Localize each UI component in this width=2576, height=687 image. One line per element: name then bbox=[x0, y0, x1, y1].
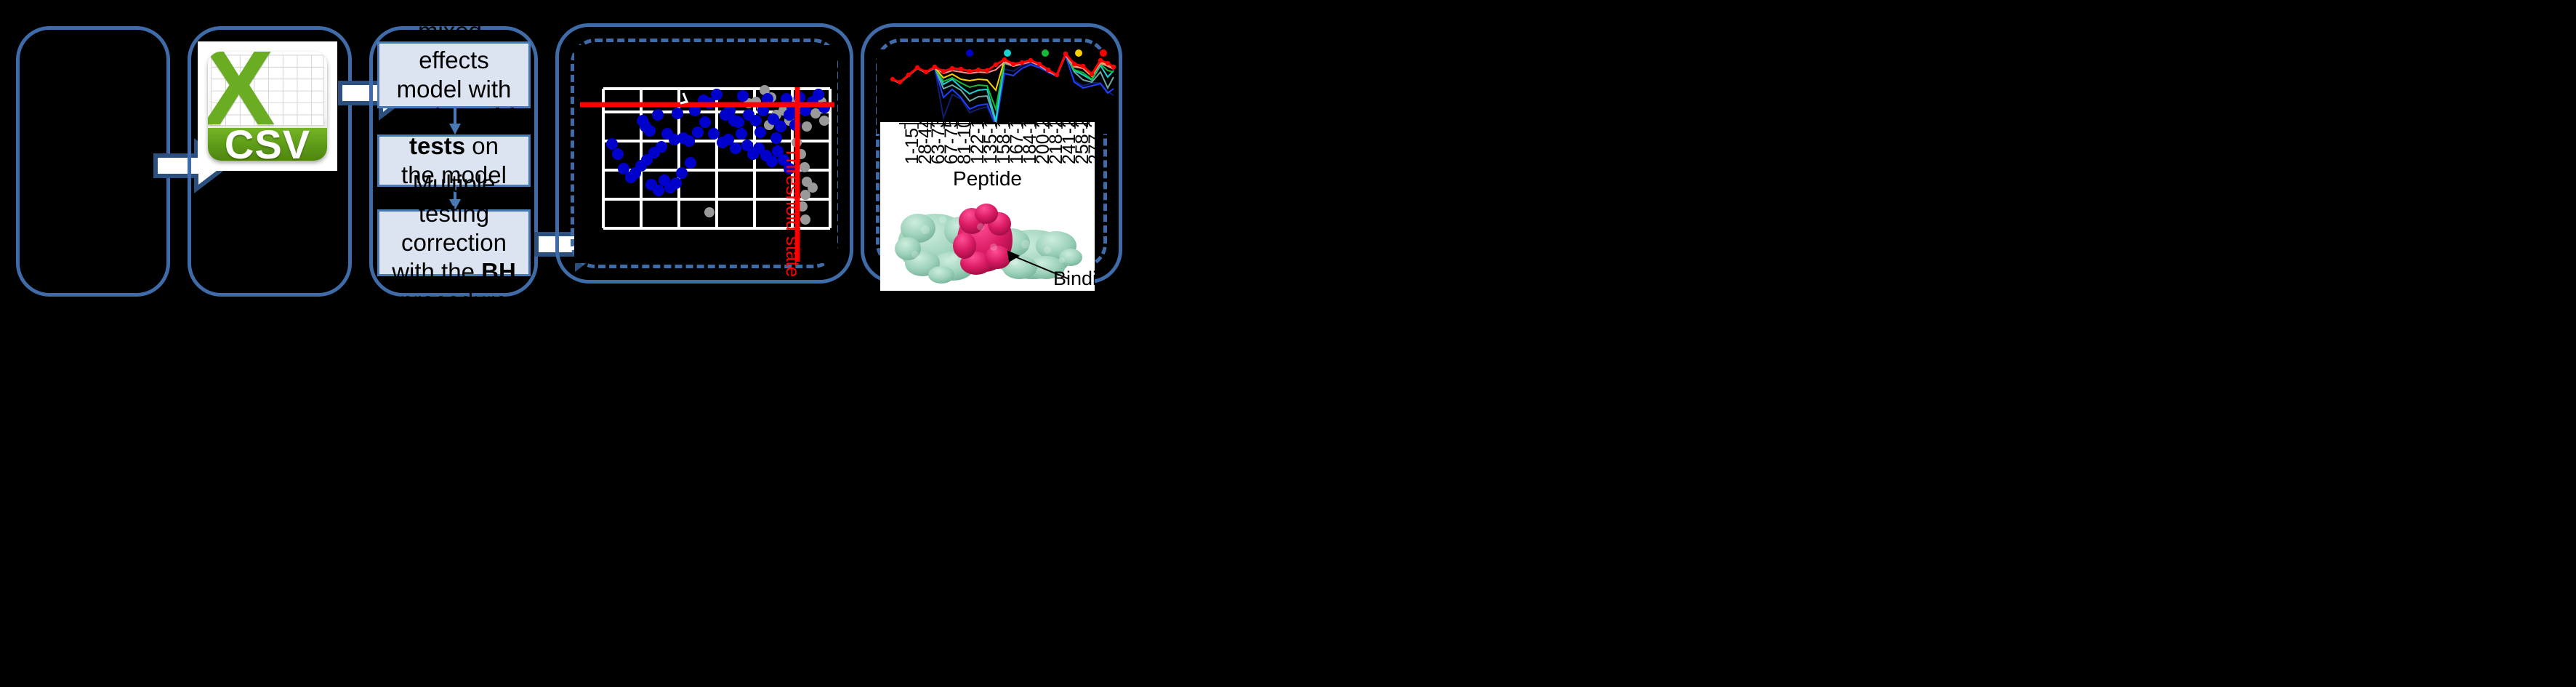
step-fit-model-box[interactable]: Fit a linear mixed-effects model withREM… bbox=[377, 41, 531, 108]
peptide-tick-14: 277-284 bbox=[1085, 122, 1095, 164]
input-panel bbox=[16, 26, 170, 297]
flowchart-canvas: X CSV Fit a linear mixed-effects model w… bbox=[0, 0, 2576, 687]
binding-interface-label: Binding interface bbox=[1053, 268, 1095, 291]
peptide-line-chart bbox=[877, 49, 1116, 134]
binding-interface-line2: interface bbox=[1053, 289, 1095, 291]
peptide-structure-card: 1-15 28-44 63-73 67-75 81-101 122-129 13… bbox=[880, 122, 1095, 291]
peptide-line-chart-svg bbox=[877, 49, 1116, 134]
volcano-plot: Threshold interaction bbox=[574, 45, 837, 263]
csv-file-icon: X CSV bbox=[198, 41, 337, 171]
threshold-state-label: Threshold state bbox=[781, 147, 804, 277]
csv-tile: X CSV bbox=[208, 52, 327, 161]
step-bh-correction-box[interactable]: Multiple testingcorrectionwith the BH pr… bbox=[377, 209, 531, 276]
step-bh-correction-text: Multiple testingcorrectionwith the BH pr… bbox=[387, 169, 521, 316]
binding-interface-line1: Binding bbox=[1053, 268, 1095, 289]
csv-format-label: CSV bbox=[208, 128, 327, 161]
excel-x-icon: X bbox=[212, 55, 266, 118]
